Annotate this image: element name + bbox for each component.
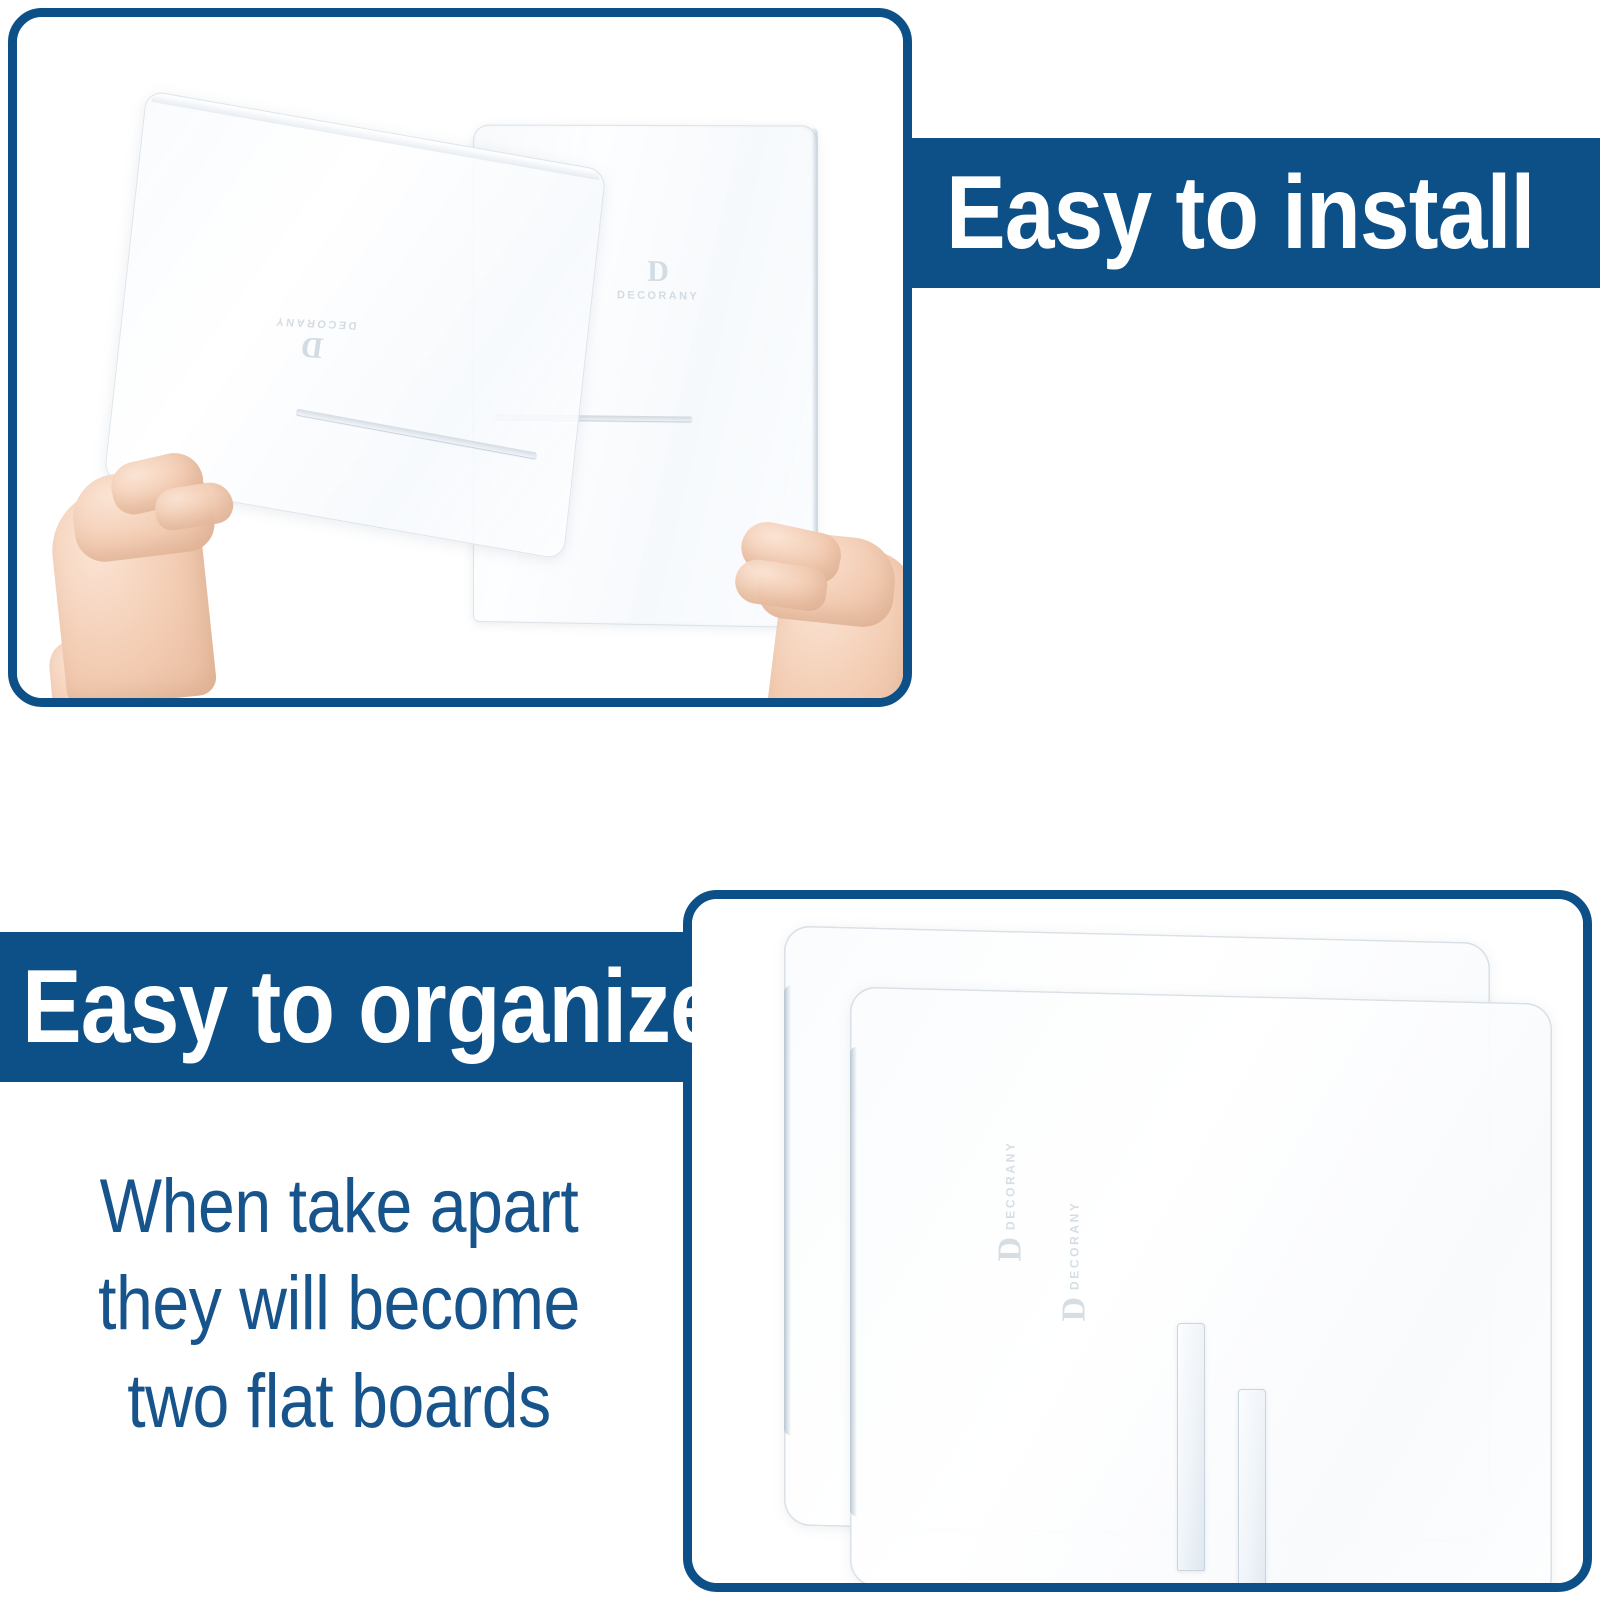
photo-stage-organize: D DECORANY D DECORANY <box>692 899 1583 1583</box>
board-tab-fin-right <box>1238 1389 1266 1592</box>
body-copy-organize: When take apart they will become two fla… <box>56 1158 622 1450</box>
headline-banner-organize: Easy to organize <box>0 932 690 1082</box>
brand-mark-icon: D <box>1058 1297 1092 1322</box>
photo-frame-organize: D DECORANY D DECORANY <box>683 890 1592 1592</box>
brand-mark-icon: D <box>994 1237 1028 1262</box>
headline-organize: Easy to organize <box>22 955 719 1059</box>
photo-stage-install: D DECORANY D DECORANY <box>17 17 903 698</box>
headline-install: Easy to install <box>946 161 1535 265</box>
board-slot-tilted <box>296 409 536 459</box>
board-tab-fin-left <box>1177 1323 1205 1571</box>
right-hand <box>717 505 912 707</box>
brand-wordmark: DECORANY <box>1068 1200 1082 1289</box>
brand-logo-etch-rear: D DECORANY <box>994 1140 1028 1261</box>
brand-logo-etch-front: D DECORANY <box>1058 1200 1092 1321</box>
headline-banner-install: Easy to install <box>912 138 1600 288</box>
left-hand <box>45 437 275 707</box>
photo-frame-install: D DECORANY D DECORANY <box>8 8 912 707</box>
brand-wordmark: DECORANY <box>1004 1140 1018 1229</box>
